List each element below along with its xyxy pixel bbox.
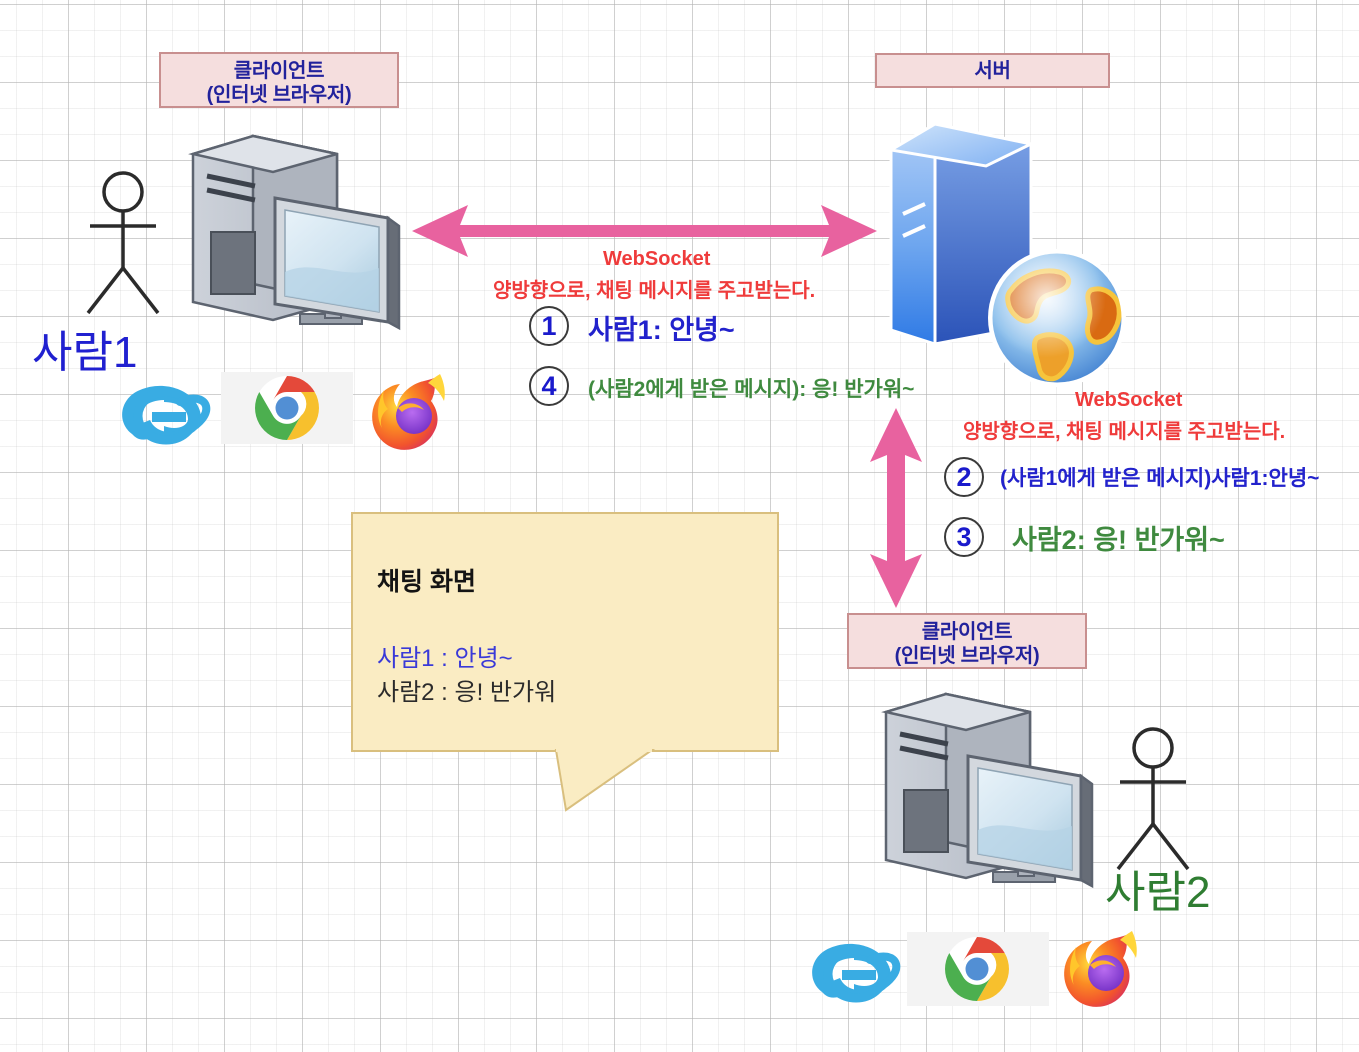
client-bottom-label-line2: (인터넷 브라우저) (849, 644, 1085, 668)
client-bottom-label-line1: 클라이언트 (849, 620, 1085, 644)
websocket-arrow-vertical (866, 408, 926, 608)
chat-bubble-line-2: 사람2 : 응! 반가워 (377, 672, 556, 707)
globe-icon (985, 246, 1130, 391)
stick-figure-person1 (78, 168, 188, 316)
chat-bubble-tail (554, 748, 664, 814)
step-number-1: 1 (529, 306, 569, 346)
step-number-4: 4 (529, 366, 569, 406)
client-top-label-box: 클라이언트 (인터넷 브라우저) (159, 52, 399, 108)
google-chrome-icon-bottom (944, 936, 1010, 1002)
server-label-box: 서버 (875, 53, 1110, 88)
internet-explorer-icon-bottom (808, 930, 904, 1014)
person1-name: 사람1 (32, 316, 137, 380)
step-text-3: 사람2: 응! 반가워~ (1012, 518, 1225, 557)
step-text-4: (사람2에게 받은 메시지): 응! 반가워~ (588, 373, 914, 403)
link-bottom-protocol: WebSocket (1075, 389, 1182, 412)
step-number-3: 3 (944, 517, 984, 557)
client-top-label-line2: (인터넷 브라우저) (161, 83, 397, 107)
desktop-computer-icon-top (185, 132, 410, 357)
link-top-description: 양방향으로, 채팅 메시지를 주고받는다. (493, 274, 815, 303)
stick-figure-person2 (1108, 724, 1218, 872)
step-number-2: 2 (944, 457, 984, 497)
internet-explorer-icon-top (118, 372, 214, 456)
mozilla-firefox-icon-bottom (1054, 925, 1144, 1015)
step-text-2: (사람1에게 받은 메시지)사람1:안녕~ (1000, 462, 1319, 492)
client-bottom-label-box: 클라이언트 (인터넷 브라우저) (847, 613, 1087, 669)
chat-bubble-title: 채팅 화면 (352, 562, 780, 598)
chat-bubble-line-1: 사람1 : 안녕~ (377, 638, 513, 673)
mozilla-firefox-icon-top (362, 368, 452, 458)
step-text-1: 사람1: 안녕~ (588, 308, 735, 347)
chat-screen-bubble (351, 512, 779, 752)
link-bottom-description: 양방향으로, 채팅 메시지를 주고받는다. (963, 415, 1285, 444)
server-label-text: 서버 (877, 59, 1108, 83)
client-top-label-line1: 클라이언트 (161, 59, 397, 83)
person2-name: 사람2 (1105, 856, 1210, 920)
google-chrome-icon-top (254, 375, 320, 441)
desktop-computer-icon-bottom (878, 690, 1103, 915)
diagram-canvas: 클라이언트 (인터넷 브라우저) 서버 클라이언트 (인터넷 브라우저) 사람1 (0, 0, 1359, 1052)
link-top-protocol: WebSocket (603, 248, 710, 271)
